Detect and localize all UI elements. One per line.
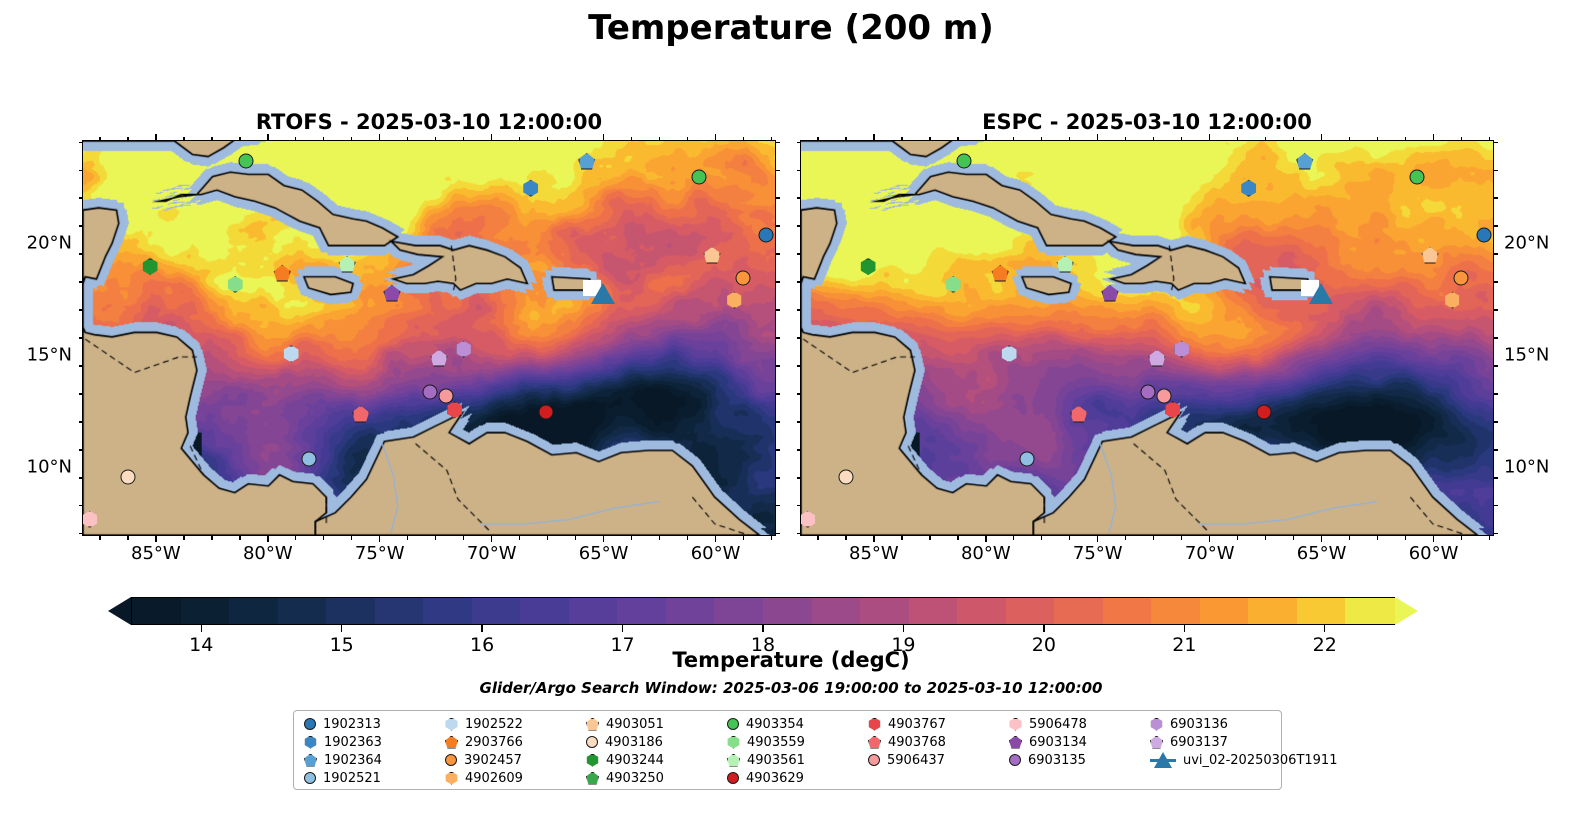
axis-tick [659,536,660,540]
axis-tick [957,137,958,141]
circle-marker-icon [239,154,254,169]
hexagon-marker-icon [445,718,458,731]
axis-tick [1125,536,1126,540]
float-marker[interactable] [1141,384,1156,403]
legend-item[interactable]: 5906437 [864,751,1005,769]
float-marker[interactable] [339,256,356,277]
axis-tick [873,134,874,140]
circle-marker-icon [445,754,457,766]
axis-tick [1405,536,1406,540]
axis-tick [631,137,632,141]
axis-tick [79,505,83,506]
colorbar-segment [909,598,959,624]
axis-tick [715,536,716,542]
axis-tick [239,137,240,141]
axis-tick [239,536,240,540]
circle-marker-icon [758,228,773,243]
map-field-espc [801,141,1493,535]
hexagon-marker-icon [1444,292,1461,309]
legend-item[interactable]: 4903629 [723,769,864,787]
colorbar-segment [181,598,231,624]
hexagon-marker-icon [82,511,98,528]
axis-tick [79,197,83,198]
axis-tick [1097,536,1098,542]
pentagon-marker-icon [1422,247,1439,264]
legend-item[interactable]: 4903767 [864,715,1005,733]
float-marker[interactable] [838,469,853,488]
hexagon-marker-icon [1240,180,1257,197]
colorbar-segment [1151,598,1201,624]
x-tick-label: 85°W [131,543,181,564]
axis-tick [127,536,128,540]
axis-tick [817,536,818,540]
colorbar-extend-high [1395,597,1418,625]
y-tick-label: 10°N [1504,456,1549,477]
pentagon-marker-icon [578,153,595,170]
axis-tick [295,137,296,141]
axis-tick [407,536,408,540]
x-tick-label: 65°W [1297,543,1347,564]
float-marker[interactable] [239,154,254,173]
float-marker[interactable] [704,247,721,268]
legend-item[interactable]: 6903137 [1146,733,1351,751]
colorbar-segment [229,598,279,624]
glider-marker-icon [1150,751,1176,769]
float-marker[interactable] [992,265,1009,286]
float-marker[interactable] [1409,170,1424,189]
pentagon-marker-icon [992,265,1009,282]
axis-tick [1494,421,1498,422]
axis-tick [797,477,801,478]
legend-item[interactable]: 1902521 [300,769,441,787]
axis-tick [1265,137,1266,141]
axis-tick [463,137,464,141]
legend-item-label: 4903559 [747,735,805,750]
map-frame-espc[interactable] [800,140,1494,536]
float-marker[interactable] [957,154,972,173]
axis-tick [985,134,986,140]
legend-item[interactable]: 4903768 [864,733,1005,751]
hexagon-marker-icon [1173,341,1190,358]
colorbar-segment [278,598,328,624]
float-marker[interactable] [800,511,816,532]
axis-tick [776,170,780,171]
circle-marker-icon [120,469,135,484]
axis-tick [929,137,930,141]
float-marker[interactable] [736,270,751,289]
legend-item[interactable]: 4903250 [582,769,723,787]
axis-tick [776,393,780,394]
axis-tick [1069,137,1070,141]
legend-item[interactable]: 4903051 [582,715,723,733]
circle-marker-icon [957,154,972,169]
circle-marker-icon [539,404,554,419]
float-marker[interactable] [578,153,595,174]
float-marker[interactable] [1057,256,1074,277]
colorbar-tick [1184,625,1185,632]
axis-tick [776,365,780,366]
float-marker[interactable] [1164,401,1181,422]
circle-marker-icon [302,451,317,466]
y-tick-label: 10°N [0,456,72,477]
legend-item[interactable]: 5906478 [1005,715,1146,733]
x-tick-label: 85°W [849,543,899,564]
axis-tick [687,536,688,540]
x-tick-label: 80°W [961,543,1011,564]
x-tick-label: 65°W [579,543,629,564]
colorbar-segment [666,598,716,624]
legend-grid: 1902313190236319023641902521190252229037… [300,715,1351,787]
axis-tick [267,536,268,542]
axis-tick [1489,536,1490,540]
axis-tick [776,142,780,143]
axis-tick [776,197,780,198]
axis-tick [797,225,801,226]
legend-item[interactable]: 4903244 [582,751,723,769]
legend-column: 4903354490355949035614903629 [723,715,864,787]
legend-item-label: 4903768 [888,735,946,750]
axis-tick [1321,134,1322,140]
glider-marker[interactable] [1301,280,1335,306]
axis-tick [603,134,604,140]
axis-tick [1237,137,1238,141]
axis-tick [1489,137,1490,141]
pentagon-marker-icon [586,718,599,731]
hexagon-marker-icon [142,258,159,275]
circle-marker-icon [838,469,853,484]
page-title: Temperature (200 m) [0,8,1582,48]
axis-tick [79,477,83,478]
circle-marker-icon [868,754,880,766]
axis-tick [1349,536,1350,540]
axis-tick [351,137,352,141]
legend-item[interactable]: 4903561 [723,751,864,769]
float-marker[interactable] [1257,404,1272,423]
legend-item-label: 1902313 [323,717,381,732]
legend-item[interactable]: 4903354 [723,715,864,733]
x-tick-label: 75°W [1073,543,1123,564]
float-marker[interactable] [227,276,244,297]
pentagon-marker-icon [304,754,317,767]
legend-item-label: 5906437 [887,753,945,768]
float-marker[interactable] [539,404,554,423]
colorbar-segment [375,598,425,624]
float-marker[interactable] [945,276,962,297]
circle-marker-icon [1020,451,1035,466]
map-field-rtofs [83,141,775,535]
float-marker[interactable] [726,292,743,313]
axis-tick [776,253,780,254]
colorbar-tick [1043,625,1044,632]
axis-tick [155,134,156,140]
legend-item-label: 6903136 [1170,717,1228,732]
axis-tick [1153,536,1154,540]
axis-tick [776,337,780,338]
axis-tick [776,421,780,422]
float-marker[interactable] [82,511,98,532]
hexagon-marker-icon [522,180,539,197]
legend-item[interactable]: 1902522 [441,715,582,733]
axis-tick [1349,137,1350,141]
axis-tick [776,281,780,282]
axis-tick [463,536,464,540]
x-tick-label: 60°W [1409,543,1459,564]
y-tick-label: 15°N [1504,344,1549,365]
float-marker[interactable] [274,265,291,286]
colorbar-segment [132,598,182,624]
axis-tick [957,536,958,540]
circle-marker-icon [423,384,438,399]
panel-title-rtofs: RTOFS - 2025-03-10 12:00:00 [82,110,776,134]
colorbar-segment [423,598,473,624]
map-panel-espc[interactable]: ESPC - 2025-03-10 12:00:00 [800,140,1494,536]
y-tick-label: 20°N [0,232,72,253]
hexagon-marker-icon [283,345,300,362]
circle-marker-icon [1009,754,1021,766]
axis-tick [519,137,520,141]
axis-tick [776,533,780,534]
circle-marker-icon [691,170,706,185]
float-marker[interactable] [1173,341,1190,362]
axis-tick [1377,137,1378,141]
legend-item-label: 6903137 [1170,735,1228,750]
axis-tick [79,393,83,394]
float-marker[interactable] [120,469,135,488]
colorbar-segment [860,598,910,624]
hexagon-marker-icon [586,754,599,767]
legend-item-label: 4903250 [606,771,664,786]
colorbar-segment [1345,598,1395,624]
legend-column: 69031366903137uvi_02-20250306T1911 [1146,715,1351,787]
legend-item[interactable]: 1902364 [300,751,441,769]
axis-tick [547,536,548,540]
axis-tick [1377,536,1378,540]
axis-tick [295,536,296,540]
float-marker[interactable] [1454,270,1469,289]
axis-tick [267,134,268,140]
legend-item[interactable]: uvi_02-20250306T1911 [1146,751,1351,769]
float-marker[interactable] [302,451,317,470]
axis-tick [1433,536,1434,542]
axis-tick [1181,536,1182,540]
panel-title-espc: ESPC - 2025-03-10 12:00:00 [800,110,1494,134]
axis-tick [323,137,324,141]
float-marker[interactable] [1296,153,1313,174]
pentagon-marker-icon [445,736,458,749]
float-marker[interactable] [423,384,438,403]
axis-tick [1293,536,1294,540]
legend-item[interactable]: 2903766 [441,733,582,751]
hexagon-marker-icon [227,276,244,293]
hexagon-marker-icon [445,772,458,785]
float-marker[interactable] [1240,180,1257,201]
axis-tick [776,309,780,310]
axis-tick [797,253,801,254]
axis-tick [519,536,520,540]
legend-item[interactable]: 4902609 [441,769,582,787]
hexagon-marker-icon [726,292,743,309]
axis-tick [797,449,801,450]
pentagon-marker-icon [339,256,356,273]
axis-tick [99,536,100,540]
axis-tick [379,536,380,542]
axis-tick [797,337,801,338]
legend-item[interactable]: 6903136 [1146,715,1351,733]
y-tick-label: 20°N [1504,232,1549,253]
axis-tick [79,421,83,422]
axis-tick [1265,536,1266,540]
circle-marker-icon [736,270,751,285]
axis-tick [79,142,83,143]
pentagon-marker-icon [430,350,447,367]
hexagon-marker-icon [868,718,881,731]
pentagon-marker-icon [352,406,369,423]
pentagon-marker-icon [704,247,721,264]
legend-column: 1902313190236319023641902521 [300,715,441,787]
colorbar-tick [762,625,763,632]
float-marker[interactable] [383,285,400,306]
axis-tick [797,393,801,394]
float-marker[interactable] [1101,285,1118,306]
axis-tick [845,137,846,141]
colorbar-segment [1200,598,1250,624]
float-marker[interactable] [352,406,369,427]
float-marker[interactable] [691,170,706,189]
float-marker[interactable] [1444,292,1461,313]
axis-tick [99,137,100,141]
hexagon-marker-icon [304,736,317,749]
legend-item-label: 1902363 [324,735,382,750]
axis-tick [1069,536,1070,540]
hexagon-marker-icon [1164,401,1181,418]
float-marker[interactable] [758,228,773,247]
circle-marker-icon [727,772,739,784]
legend-item[interactable]: 6903134 [1005,733,1146,751]
axis-tick [323,536,324,540]
axis-tick [1041,536,1042,540]
colorbar-segment [1103,598,1153,624]
axis-tick [797,505,801,506]
float-marker[interactable] [142,258,159,279]
legend-item-label: 1902522 [465,717,523,732]
axis-tick [491,536,492,542]
axis-tick [1209,134,1210,140]
axis-tick [79,533,83,534]
axis-tick [155,536,156,542]
axis-tick [79,365,83,366]
axis-tick [211,137,212,141]
colorbar-segment [714,598,764,624]
map-frame-rtofs[interactable] [82,140,776,536]
pentagon-marker-icon [1101,285,1118,302]
axis-tick [873,536,874,542]
float-marker[interactable] [1020,451,1035,470]
colorbar-segment [812,598,862,624]
axis-tick [771,536,772,540]
float-marker[interactable] [860,258,877,279]
axis-tick [79,253,83,254]
legend-item[interactable]: 4903559 [723,733,864,751]
colorbar-tick [903,625,904,632]
colorbar-tick [622,625,623,632]
float-marker[interactable] [283,345,300,366]
axis-tick [1461,536,1462,540]
legend-item[interactable]: 1902313 [300,715,441,733]
axis-tick [1494,309,1498,310]
float-marker[interactable] [522,180,539,201]
axis-tick [1461,137,1462,141]
hexagon-marker-icon [945,276,962,293]
axis-tick [79,309,83,310]
axis-tick [435,137,436,141]
axis-tick [1321,536,1322,542]
colorbar-segment [1006,598,1056,624]
axis-tick [797,197,801,198]
float-marker[interactable] [455,341,472,362]
map-panel-rtofs[interactable]: RTOFS - 2025-03-10 12:00:00 [82,140,776,536]
float-marker[interactable] [1422,247,1439,268]
axis-tick [379,134,380,140]
float-marker[interactable] [1148,350,1165,371]
colorbar-tick [201,625,202,632]
axis-tick [603,536,604,542]
float-marker[interactable] [446,401,463,422]
legend-item[interactable]: 6903135 [1005,751,1146,769]
axis-tick [776,449,780,450]
colorbar: 141516171819202122 [108,597,1418,625]
axis-tick [797,281,801,282]
colorbar-segment [569,598,619,624]
legend-item[interactable]: 3902457 [441,751,582,769]
axis-tick [575,137,576,141]
pentagon-marker-icon [586,772,599,785]
axis-tick [127,137,128,141]
axis-tick [743,536,744,540]
float-marker[interactable] [430,350,447,371]
pentagon-marker-icon [1296,153,1313,170]
axis-tick [715,134,716,140]
float-marker[interactable] [1001,345,1018,366]
axis-tick [1433,134,1434,140]
hexagon-marker-icon [1150,718,1163,731]
axis-tick [1013,137,1014,141]
float-marker[interactable] [1476,228,1491,247]
legend-item[interactable]: 4903186 [582,733,723,751]
axis-tick [985,536,986,542]
legend-column: 590647869031346903135 [1005,715,1146,787]
axis-tick [211,536,212,540]
legend-item-label: 4903244 [606,753,664,768]
axis-tick [1494,365,1498,366]
axis-tick [351,536,352,540]
colorbar-tick [481,625,482,632]
platform-legend[interactable]: 1902313190236319023641902521190252229037… [293,710,1282,790]
legend-item[interactable]: 1902363 [300,733,441,751]
legend-column: 4903051490318649032444903250 [582,715,723,787]
axis-tick [1494,337,1498,338]
axis-tick [776,225,780,226]
colorbar-segment [520,598,570,624]
float-marker[interactable] [1070,406,1087,427]
legend-item-label: 3902457 [464,753,522,768]
glider-marker[interactable] [583,280,617,306]
axis-tick [929,536,930,540]
pentagon-marker-icon [868,736,881,749]
hexagon-marker-icon [455,341,472,358]
axis-tick [845,536,846,540]
colorbar-segment [763,598,813,624]
axis-tick [659,137,660,141]
